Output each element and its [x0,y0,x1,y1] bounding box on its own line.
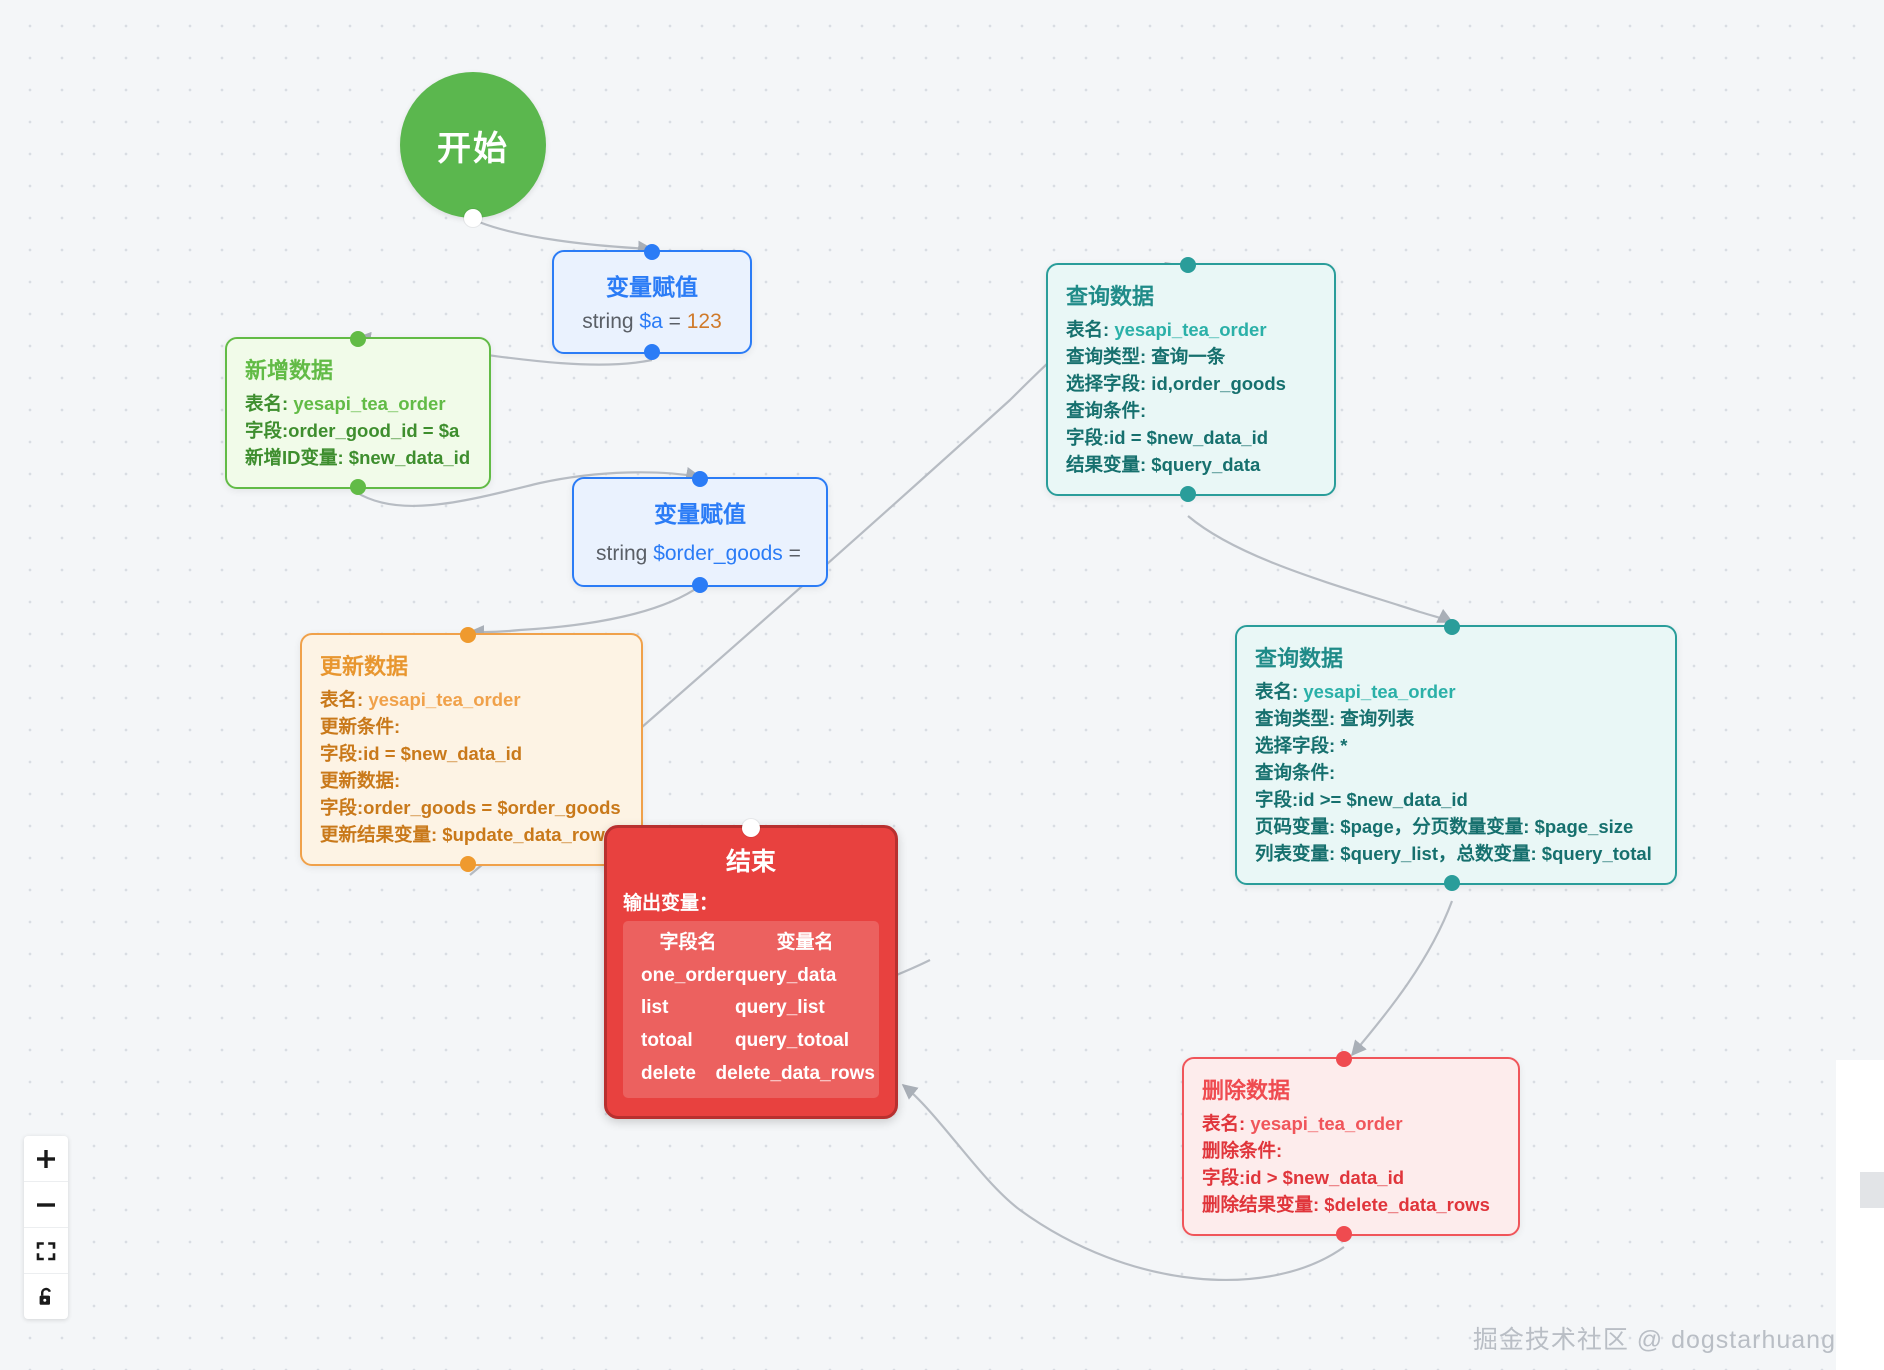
zoom-out-button[interactable] [24,1182,68,1228]
query-list-table-label: 表名: [1255,681,1303,702]
insert-table-value: yesapi_tea_order [293,393,445,414]
table-header-field: 字段名 [627,927,735,960]
fit-screen-icon [35,1240,57,1262]
node-query-one-title: 查询数据 [1066,279,1316,311]
update-table-value: yesapi_tea_order [368,689,520,710]
node-end-subtitle: 输出变量： [623,888,879,915]
port-insert-in[interactable] [350,331,366,347]
table-header-variable: 变量名 [735,927,875,960]
port-delete-in[interactable] [1336,1051,1352,1067]
node-update-line-2: 更新条件: [320,713,623,740]
node-delete-line-2: 删除条件: [1202,1137,1500,1164]
table-cell-variable: query_totoal [735,1025,875,1058]
node-insert-line-2: 字段:order_good_id = $a [245,417,471,444]
query-list-table-value: yesapi_tea_order [1303,681,1455,702]
fit-screen-button[interactable] [24,1228,68,1274]
table-row: totoal query_totoal [627,1025,875,1058]
node-assign-order-goods[interactable]: 变量赋值 string $order_goods = 新 [572,477,828,587]
node-query-list-line-6: 页码变量: $page，分页数量变量: $page_size [1255,813,1657,840]
port-query-one-in[interactable] [1180,257,1196,273]
port-update-in[interactable] [460,627,476,643]
table-cell-field: one_order [627,960,735,993]
node-start[interactable]: 开始 [400,72,546,218]
port-delete-out[interactable] [1336,1226,1352,1242]
node-query-list-table-line: 表名: yesapi_tea_order [1255,678,1657,705]
node-end-title: 结束 [623,842,879,878]
node-query-list-line-3: 选择字段: * [1255,732,1657,759]
node-query-one-line-5: 字段:id = $new_data_id [1066,424,1316,451]
node-update-data[interactable]: 更新数据 表名: yesapi_tea_order 更新条件: 字段:id = … [300,633,643,866]
node-update-table-line: 表名: yesapi_tea_order [320,686,623,713]
node-update-line-4: 更新数据: [320,767,623,794]
edge-query-list-to-delete [1352,901,1452,1055]
query-one-table-label: 表名: [1066,319,1114,340]
node-query-one-line-4: 查询条件: [1066,397,1316,424]
edge-query-one-to-query-list [1188,516,1452,622]
update-table-label: 表名: [320,689,368,710]
node-update-line-3: 字段:id = $new_data_id [320,740,623,767]
port-query-list-in[interactable] [1444,619,1460,635]
assign-goods-type: string [596,542,647,565]
node-query-list-line-5: 字段:id >= $new_data_id [1255,786,1657,813]
table-cell-field: delete [627,1058,716,1091]
unlock-icon [35,1286,57,1308]
assign-a-value: 123 [687,310,722,333]
zoom-in-button[interactable] [24,1136,68,1182]
node-insert-table-line: 表名: yesapi_tea_order [245,390,471,417]
node-update-title: 更新数据 [320,649,623,681]
node-query-list[interactable]: 查询数据 表名: yesapi_tea_order 查询类型: 查询列表 选择字… [1235,625,1677,885]
port-assign-goods-in[interactable] [692,471,708,487]
node-query-list-title: 查询数据 [1255,641,1657,673]
port-update-out[interactable] [460,856,476,872]
node-end[interactable]: 结束 输出变量： 字段名 变量名 one_order query_data li… [604,825,898,1119]
port-insert-out[interactable] [350,479,366,495]
insert-table-label: 表名: [245,393,293,414]
node-update-line-6: 更新结果变量: $update_data_rows [320,821,623,848]
right-panel-edge [1836,1060,1884,1370]
minus-icon [35,1194,57,1216]
node-delete-line-3: 字段:id > $new_data_id [1202,1164,1500,1191]
edge-assign-goods-to-update [470,586,700,632]
lock-toggle-button[interactable] [24,1274,68,1319]
node-query-one[interactable]: 查询数据 表名: yesapi_tea_order 查询类型: 查询一条 选择字… [1046,263,1336,496]
node-query-one-line-6: 结果变量: $query_data [1066,451,1316,478]
right-panel-edge-block [1860,1172,1884,1208]
canvas-toolbar[interactable] [24,1136,68,1319]
node-insert-line-3: 新增ID变量: $new_data_id [245,444,471,471]
node-assign-order-goods-title: 变量赋值 [596,495,804,529]
watermark: 掘金技术社区 @ dogstarhuang [1473,1320,1836,1356]
table-cell-variable: query_data [735,960,875,993]
node-query-list-line-4: 查询条件: [1255,759,1657,786]
query-one-table-value: yesapi_tea_order [1114,319,1266,340]
assign-a-variable: $a [639,310,662,333]
port-end-in[interactable] [742,819,760,837]
table-cell-field: totoal [627,1025,735,1058]
assign-a-type: string [582,310,633,333]
node-delete-data[interactable]: 删除数据 表名: yesapi_tea_order 删除条件: 字段:id > … [1182,1057,1520,1236]
node-assign-a[interactable]: 变量赋值 string $a = 123 [552,250,752,354]
table-cell-variable: delete_data_rows [716,1058,875,1091]
node-delete-line-4: 删除结果变量: $delete_data_rows [1202,1191,1500,1218]
table-row: one_order query_data [627,960,875,993]
delete-table-value: yesapi_tea_order [1250,1113,1402,1134]
node-assign-a-title: 变量赋值 [576,268,728,302]
output-variables-table: 字段名 变量名 one_order query_data list query_… [623,921,879,1098]
plus-icon [35,1148,57,1170]
node-update-line-5: 字段:order_goods = $order_goods [320,794,623,821]
node-insert-title: 新增数据 [245,353,471,385]
edge-start-to-assign-a [479,222,652,249]
port-assign-goods-out[interactable] [692,577,708,593]
table-cell-variable: query_list [735,992,875,1025]
flow-canvas[interactable]: 开始 变量赋值 string $a = 123 新增数据 表名: yesapi_… [0,0,1884,1370]
port-query-one-out[interactable] [1180,486,1196,502]
assign-goods-variable: $order_goods [653,542,783,565]
port-assign-a-in[interactable] [644,244,660,260]
node-delete-table-line: 表名: yesapi_tea_order [1202,1110,1500,1137]
port-assign-a-out[interactable] [644,344,660,360]
node-query-one-table-line: 表名: yesapi_tea_order [1066,316,1316,343]
assign-goods-equals: = [789,542,801,565]
table-cell-field: list [627,992,735,1025]
node-delete-title: 删除数据 [1202,1073,1500,1105]
node-start-title: 开始 [437,121,509,170]
node-query-one-line-3: 选择字段: id,order_goods [1066,370,1316,397]
delete-table-label: 表名: [1202,1113,1250,1134]
port-start-out[interactable] [464,209,482,227]
assign-a-equals: = [669,310,681,333]
port-query-list-out[interactable] [1444,875,1460,891]
node-assign-a-expression: string $a = 123 [576,310,728,334]
node-query-list-line-7: 列表变量: $query_list，总数变量: $query_total [1255,840,1657,867]
node-insert-data[interactable]: 新增数据 表名: yesapi_tea_order 字段:order_good_… [225,337,491,489]
node-assign-order-goods-expression: string $order_goods = 新 [596,537,804,567]
table-row: list query_list [627,992,875,1025]
node-query-list-line-2: 查询类型: 查询列表 [1255,705,1657,732]
table-row: delete delete_data_rows [627,1058,875,1091]
table-header-row: 字段名 变量名 [627,927,875,960]
node-query-one-line-2: 查询类型: 查询一条 [1066,343,1316,370]
